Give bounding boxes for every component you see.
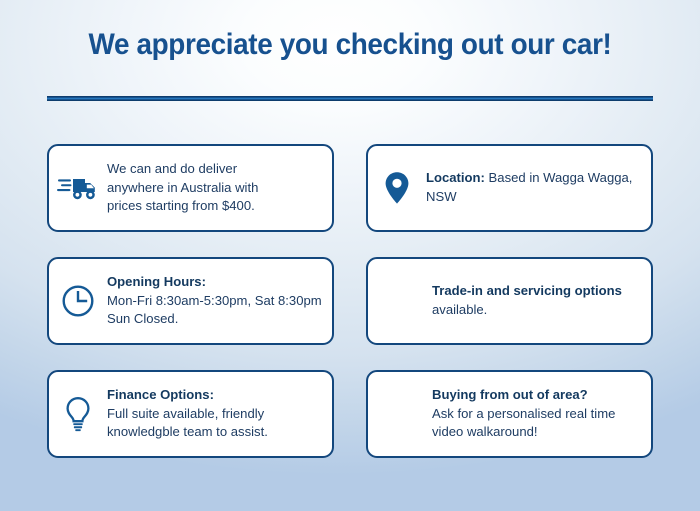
info-card-trade-in[interactable]: Trade-in and servicing options available… xyxy=(366,257,653,345)
info-card-out-of-area-text: Buying from out of area? Ask for a perso… xyxy=(426,386,651,443)
title-divider xyxy=(47,96,653,101)
info-card-finance[interactable]: Finance Options: Full suite available, f… xyxy=(47,370,334,458)
promo-panel: We appreciate you checking out our car! xyxy=(0,0,700,511)
card-line: anywhere in Australia with xyxy=(107,179,328,198)
info-card-location-text: Location: Based in Wagga Wagga, NSW xyxy=(426,169,651,207)
info-card-finance-text: Finance Options: Full suite available, f… xyxy=(107,386,332,443)
info-card-out-of-area[interactable]: Buying from out of area? Ask for a perso… xyxy=(366,370,653,458)
card-line: available. xyxy=(432,301,647,320)
info-card-opening-hours-text: Opening Hours: Mon-Fri 8:30am-5:30pm, Sa… xyxy=(107,273,332,330)
card-line: Sun Closed. xyxy=(107,310,328,329)
card-line: Location: Based in Wagga Wagga, xyxy=(426,169,647,188)
card-line: NSW xyxy=(426,188,647,207)
card-line: knowledgble team to assist. xyxy=(107,423,328,442)
location-label: Location: xyxy=(426,170,485,185)
card-line: We can and do deliver xyxy=(107,160,328,179)
clock-icon xyxy=(49,284,107,318)
info-card-delivery[interactable]: We can and do deliver anywhere in Austra… xyxy=(47,144,334,232)
card-line: Opening Hours: xyxy=(107,273,328,292)
card-line: Full suite available, friendly xyxy=(107,405,328,424)
card-line: video walkaround! xyxy=(432,423,647,442)
card-line: Ask for a personalised real time xyxy=(432,405,647,424)
info-card-delivery-text: We can and do deliver anywhere in Austra… xyxy=(107,160,332,217)
delivery-truck-icon xyxy=(49,173,107,203)
card-line: Mon-Fri 8:30am-5:30pm, Sat 8:30pm xyxy=(107,292,328,311)
card-line: Finance Options: xyxy=(107,386,328,405)
lightbulb-icon xyxy=(49,396,107,432)
page-title: We appreciate you checking out our car! xyxy=(25,28,676,61)
info-card-opening-hours[interactable]: Opening Hours: Mon-Fri 8:30am-5:30pm, Sa… xyxy=(47,257,334,345)
map-pin-icon xyxy=(368,171,426,205)
info-card-grid: We can and do deliver anywhere in Austra… xyxy=(47,144,653,458)
location-value: Based in Wagga Wagga, xyxy=(485,170,633,185)
card-line: Trade-in and servicing options xyxy=(432,282,647,301)
card-line: prices starting from $400. xyxy=(107,197,328,216)
info-card-location[interactable]: Location: Based in Wagga Wagga, NSW xyxy=(366,144,653,232)
page-title-wrap: We appreciate you checking out our car! xyxy=(0,0,700,61)
info-card-trade-in-text: Trade-in and servicing options available… xyxy=(426,282,651,320)
card-line: Buying from out of area? xyxy=(432,386,647,405)
